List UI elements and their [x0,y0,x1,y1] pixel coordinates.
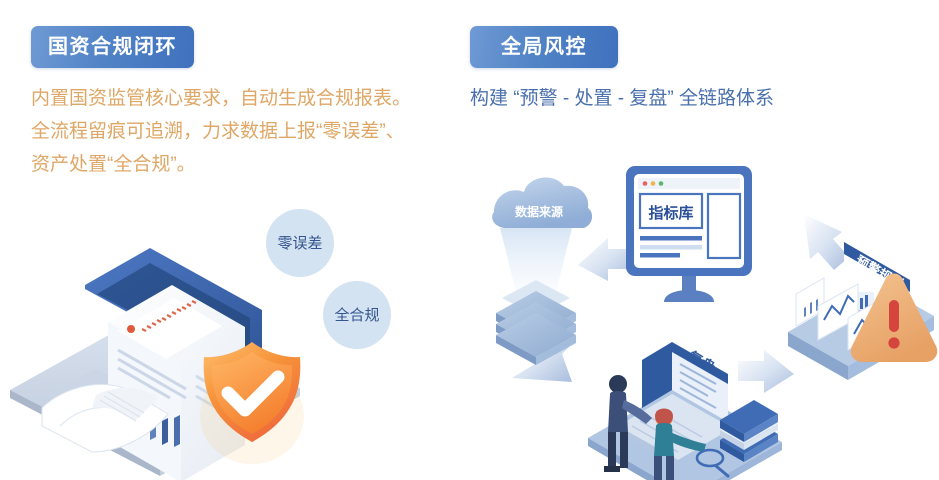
right-badge: 全局风控 [470,26,618,68]
stage-metric-store: 指标库 [626,166,752,302]
cycle-arrow-datasource-to-metrics [578,238,632,281]
right-panel: 全局风控 构建 “预警 - 处置 - 复盘” 全链路体系 [466,0,939,480]
left-copy: 内置国资监管核心要求，自动生成合规报表。 全流程留痕可追溯，力求数据上报“零误差… [31,82,411,181]
right-illustration: 数据来源 [466,150,939,480]
left-panel: 国资合规闭环 内置国资监管核心要求，自动生成合规报表。 全流程留痕可追溯，力求数… [0,0,466,480]
stage-label-metric-store: 指标库 [648,204,693,222]
cycle-arrow-metrics-to-alerts [804,214,849,270]
left-badge-label: 国资合规闭环 [48,37,177,57]
left-copy-line-1: 内置国资监管核心要求，自动生成合规报表。 [31,82,411,115]
right-badge-label: 全局风控 [501,37,587,57]
right-copy-line-1: 构建 “预警 - 处置 - 复盘” 全链路体系 [470,82,774,115]
left-copy-line-2: 全流程留痕可追溯，力求数据上报“零误差”、 [31,115,411,148]
browser-dot-yellow [651,181,656,186]
stage-label-data-source: 数据来源 [515,204,563,219]
left-copy-line-3: 资产处置“全合规”。 [31,148,411,181]
browser-dot-red [643,181,648,186]
shield-check-icon [200,342,304,464]
left-badge: 国资合规闭环 [31,26,194,68]
cycle-arrow-alerts-to-review [738,350,794,393]
circle-label-zero-error: 零误差 [277,235,322,252]
circle-label-full-compliance: 全合规 [334,306,379,324]
stage-data-source: 数据来源 [492,177,592,365]
data-stack [496,280,576,365]
slide-root: 国资合规闭环 内置国资监管核心要求，自动生成合规报表。 全流程留痕可追溯，力求数… [0,0,939,480]
browser-dot-green [659,181,664,186]
left-illustration: 零误差 全合规 [0,190,466,480]
cloud-icon [492,177,592,228]
right-copy: 构建 “预警 - 处置 - 复盘” 全链路体系 [470,82,774,115]
stage-alert-rules: 预警规则 [788,150,937,380]
